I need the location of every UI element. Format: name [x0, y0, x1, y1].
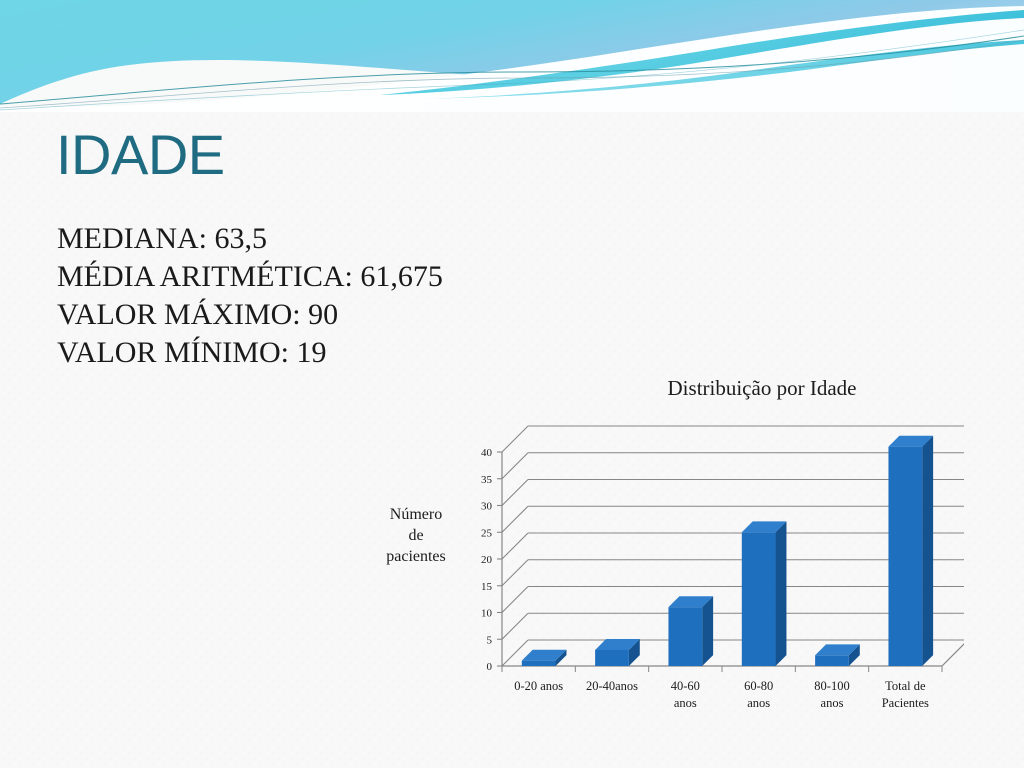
- y-axis-title: Número de pacientes: [360, 504, 472, 567]
- y-axis-title-line-1: Número: [360, 504, 472, 525]
- x-category-label: anos: [821, 696, 844, 710]
- chart-bar: [522, 650, 567, 666]
- chart-bar: [595, 639, 640, 666]
- stat-line-valor-minimo: VALOR MÍNIMO: 19: [57, 334, 577, 372]
- chart-bar: [815, 644, 860, 666]
- x-category-label: anos: [674, 696, 697, 710]
- chart-bar: [668, 596, 713, 666]
- bar-chart: Distribuição por Idade Número de pacient…: [352, 372, 972, 734]
- wave-header-decoration: [0, 0, 1024, 112]
- y-tick-label: 40: [481, 447, 493, 459]
- slide: IDADE MEDIANA: 63,5 MÉDIA ARITMÉTICA: 61…: [0, 0, 1024, 768]
- chart-bar: [742, 521, 787, 666]
- y-tick-label: 5: [487, 634, 493, 646]
- x-category-label: 80-100: [814, 679, 849, 693]
- chart-bar: [888, 436, 933, 666]
- y-tick-label: 15: [481, 581, 493, 593]
- y-tick-label: 35: [481, 474, 493, 486]
- y-tick-label: 20: [481, 554, 493, 566]
- stat-line-valor-maximo: VALOR MÁXIMO: 90: [57, 296, 577, 334]
- x-category-label: 40-60: [671, 679, 700, 693]
- page-title: IDADE: [56, 126, 225, 185]
- chart-plot-area: 05101520253035400-20 anos20-40anos40-60a…: [464, 424, 964, 724]
- x-category-label: Pacientes: [882, 696, 929, 710]
- y-tick-label: 0: [487, 661, 493, 673]
- y-axis-title-line-2: de: [360, 525, 472, 546]
- y-tick-label: 25: [481, 527, 493, 539]
- x-category-label: Total de: [885, 679, 926, 693]
- stat-line-mediana: MEDIANA: 63,5: [57, 220, 577, 258]
- x-category-label: 20-40anos: [586, 679, 638, 693]
- x-category-label: 60-80: [744, 679, 773, 693]
- y-tick-label: 10: [481, 608, 493, 620]
- x-category-label: 0-20 anos: [514, 679, 563, 693]
- x-category-label: anos: [747, 696, 770, 710]
- stat-line-media-aritmetica: MÉDIA ARITMÉTICA: 61,675: [57, 258, 577, 296]
- statistics-block: MEDIANA: 63,5 MÉDIA ARITMÉTICA: 61,675 V…: [57, 220, 577, 372]
- chart-title: Distribuição por Idade: [592, 376, 932, 401]
- y-tick-label: 30: [481, 501, 493, 513]
- y-axis-title-line-3: pacientes: [360, 546, 472, 567]
